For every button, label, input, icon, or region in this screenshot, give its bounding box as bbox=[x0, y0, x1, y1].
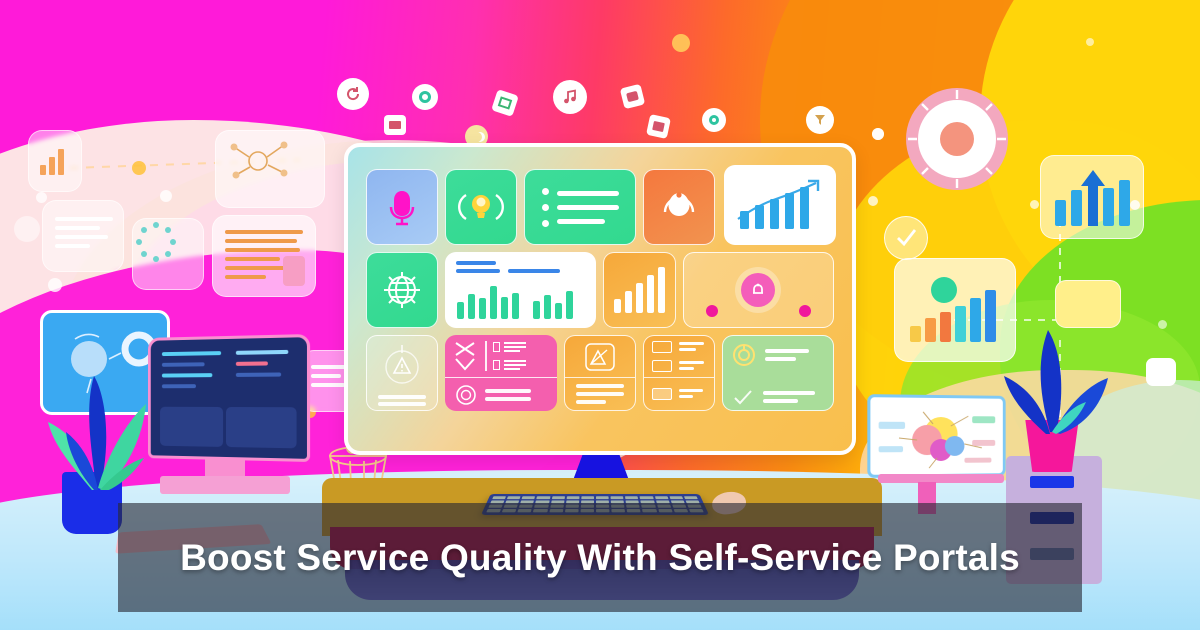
secondary-monitor bbox=[148, 334, 310, 462]
bar-arrow-up-icon bbox=[1051, 166, 1135, 230]
drawer-handle bbox=[1030, 476, 1074, 488]
title-overlay-band: Boost Service Quality With Self-Service … bbox=[118, 503, 1082, 612]
workflow-tile[interactable] bbox=[445, 335, 557, 411]
panel-block bbox=[226, 407, 297, 448]
check-circle-icon bbox=[894, 227, 918, 249]
music-icon bbox=[553, 80, 587, 114]
checklist-tile[interactable] bbox=[524, 169, 636, 245]
spinner-icon bbox=[133, 219, 179, 265]
laptop[interactable] bbox=[867, 394, 1005, 478]
gauge-ticks bbox=[906, 88, 1008, 190]
bar-chart-icon bbox=[40, 149, 64, 175]
decorative-dot bbox=[1086, 38, 1094, 46]
shuffle-icon bbox=[453, 339, 479, 373]
photo-icon bbox=[646, 114, 671, 139]
plant-leaves-left bbox=[34, 340, 164, 490]
mindmap-icon bbox=[872, 399, 1000, 472]
decorative-dot bbox=[48, 278, 62, 292]
notification-tile[interactable] bbox=[683, 252, 834, 328]
code-lines bbox=[236, 350, 295, 377]
document-card bbox=[212, 215, 316, 297]
accent-block bbox=[283, 256, 305, 286]
monitor-base bbox=[160, 476, 290, 494]
network-card bbox=[215, 130, 325, 208]
ring-icon bbox=[702, 108, 726, 132]
code-lines bbox=[162, 351, 231, 388]
globe-icon bbox=[380, 268, 424, 312]
decorative-dot bbox=[672, 34, 690, 52]
microphone-icon bbox=[385, 188, 419, 226]
blank-white-card bbox=[1146, 358, 1176, 386]
chart-icon bbox=[583, 341, 617, 373]
gauge-dial bbox=[906, 88, 1008, 190]
bar-chart-icon bbox=[614, 267, 665, 313]
lightbulb-icon bbox=[458, 187, 504, 227]
target-icon bbox=[732, 343, 756, 367]
text-lines-card bbox=[42, 200, 124, 272]
decorative-dot bbox=[14, 216, 40, 242]
decorative-dot bbox=[1030, 200, 1039, 209]
bar-chart-icon bbox=[457, 281, 573, 319]
filter-icon bbox=[806, 106, 834, 134]
loading-card bbox=[132, 218, 204, 290]
ticket-list-tile[interactable] bbox=[643, 335, 715, 411]
form-list-icon bbox=[493, 342, 526, 370]
warning-icon bbox=[376, 341, 428, 389]
microphone-tile[interactable] bbox=[366, 169, 438, 245]
decorative-dot bbox=[132, 161, 146, 175]
resolved-card[interactable] bbox=[722, 335, 834, 411]
decorative-dot bbox=[868, 196, 878, 206]
decorative-dot bbox=[1158, 320, 1167, 329]
analytics-card[interactable] bbox=[445, 252, 596, 328]
refresh-icon bbox=[337, 78, 369, 110]
panel-block bbox=[160, 407, 223, 447]
decorative-dot bbox=[160, 190, 172, 202]
monitor-neck bbox=[205, 458, 245, 478]
trending-up-icon bbox=[732, 175, 828, 235]
report-tile[interactable] bbox=[564, 335, 636, 411]
idea-tile[interactable] bbox=[445, 169, 517, 245]
bar-chart-card bbox=[28, 130, 82, 192]
growth-bars-card bbox=[1040, 155, 1144, 239]
list-icon bbox=[542, 188, 619, 227]
laptop-base bbox=[878, 474, 1004, 483]
illustration-stage: Boost Service Quality With Self-Service … bbox=[0, 0, 1200, 630]
decorative-dot bbox=[872, 128, 884, 140]
desktop-monitor[interactable] bbox=[344, 143, 856, 455]
message-icon bbox=[384, 115, 406, 135]
text-lines-icon bbox=[378, 395, 426, 406]
headset-icon bbox=[660, 190, 698, 224]
growth-chart-card[interactable] bbox=[724, 165, 836, 245]
check-icon bbox=[732, 387, 754, 407]
globe-tile[interactable] bbox=[366, 252, 438, 328]
check-badge bbox=[884, 216, 928, 260]
support-tile[interactable] bbox=[643, 169, 715, 245]
text-lines-icon bbox=[576, 384, 624, 404]
alert-tile[interactable] bbox=[366, 335, 438, 411]
page-title: Boost Service Quality With Self-Service … bbox=[180, 538, 1020, 578]
chart-legend bbox=[456, 261, 574, 273]
metrics-tile[interactable] bbox=[603, 252, 675, 328]
network-icon bbox=[216, 131, 300, 189]
circle-icon bbox=[412, 84, 438, 110]
dashboard-grid bbox=[366, 169, 834, 433]
clock-icon bbox=[455, 384, 477, 406]
plant-leaves-right bbox=[988, 300, 1123, 435]
text-lines-icon bbox=[55, 217, 113, 248]
text-lines-icon bbox=[485, 389, 531, 401]
decorative-dot bbox=[36, 192, 47, 203]
